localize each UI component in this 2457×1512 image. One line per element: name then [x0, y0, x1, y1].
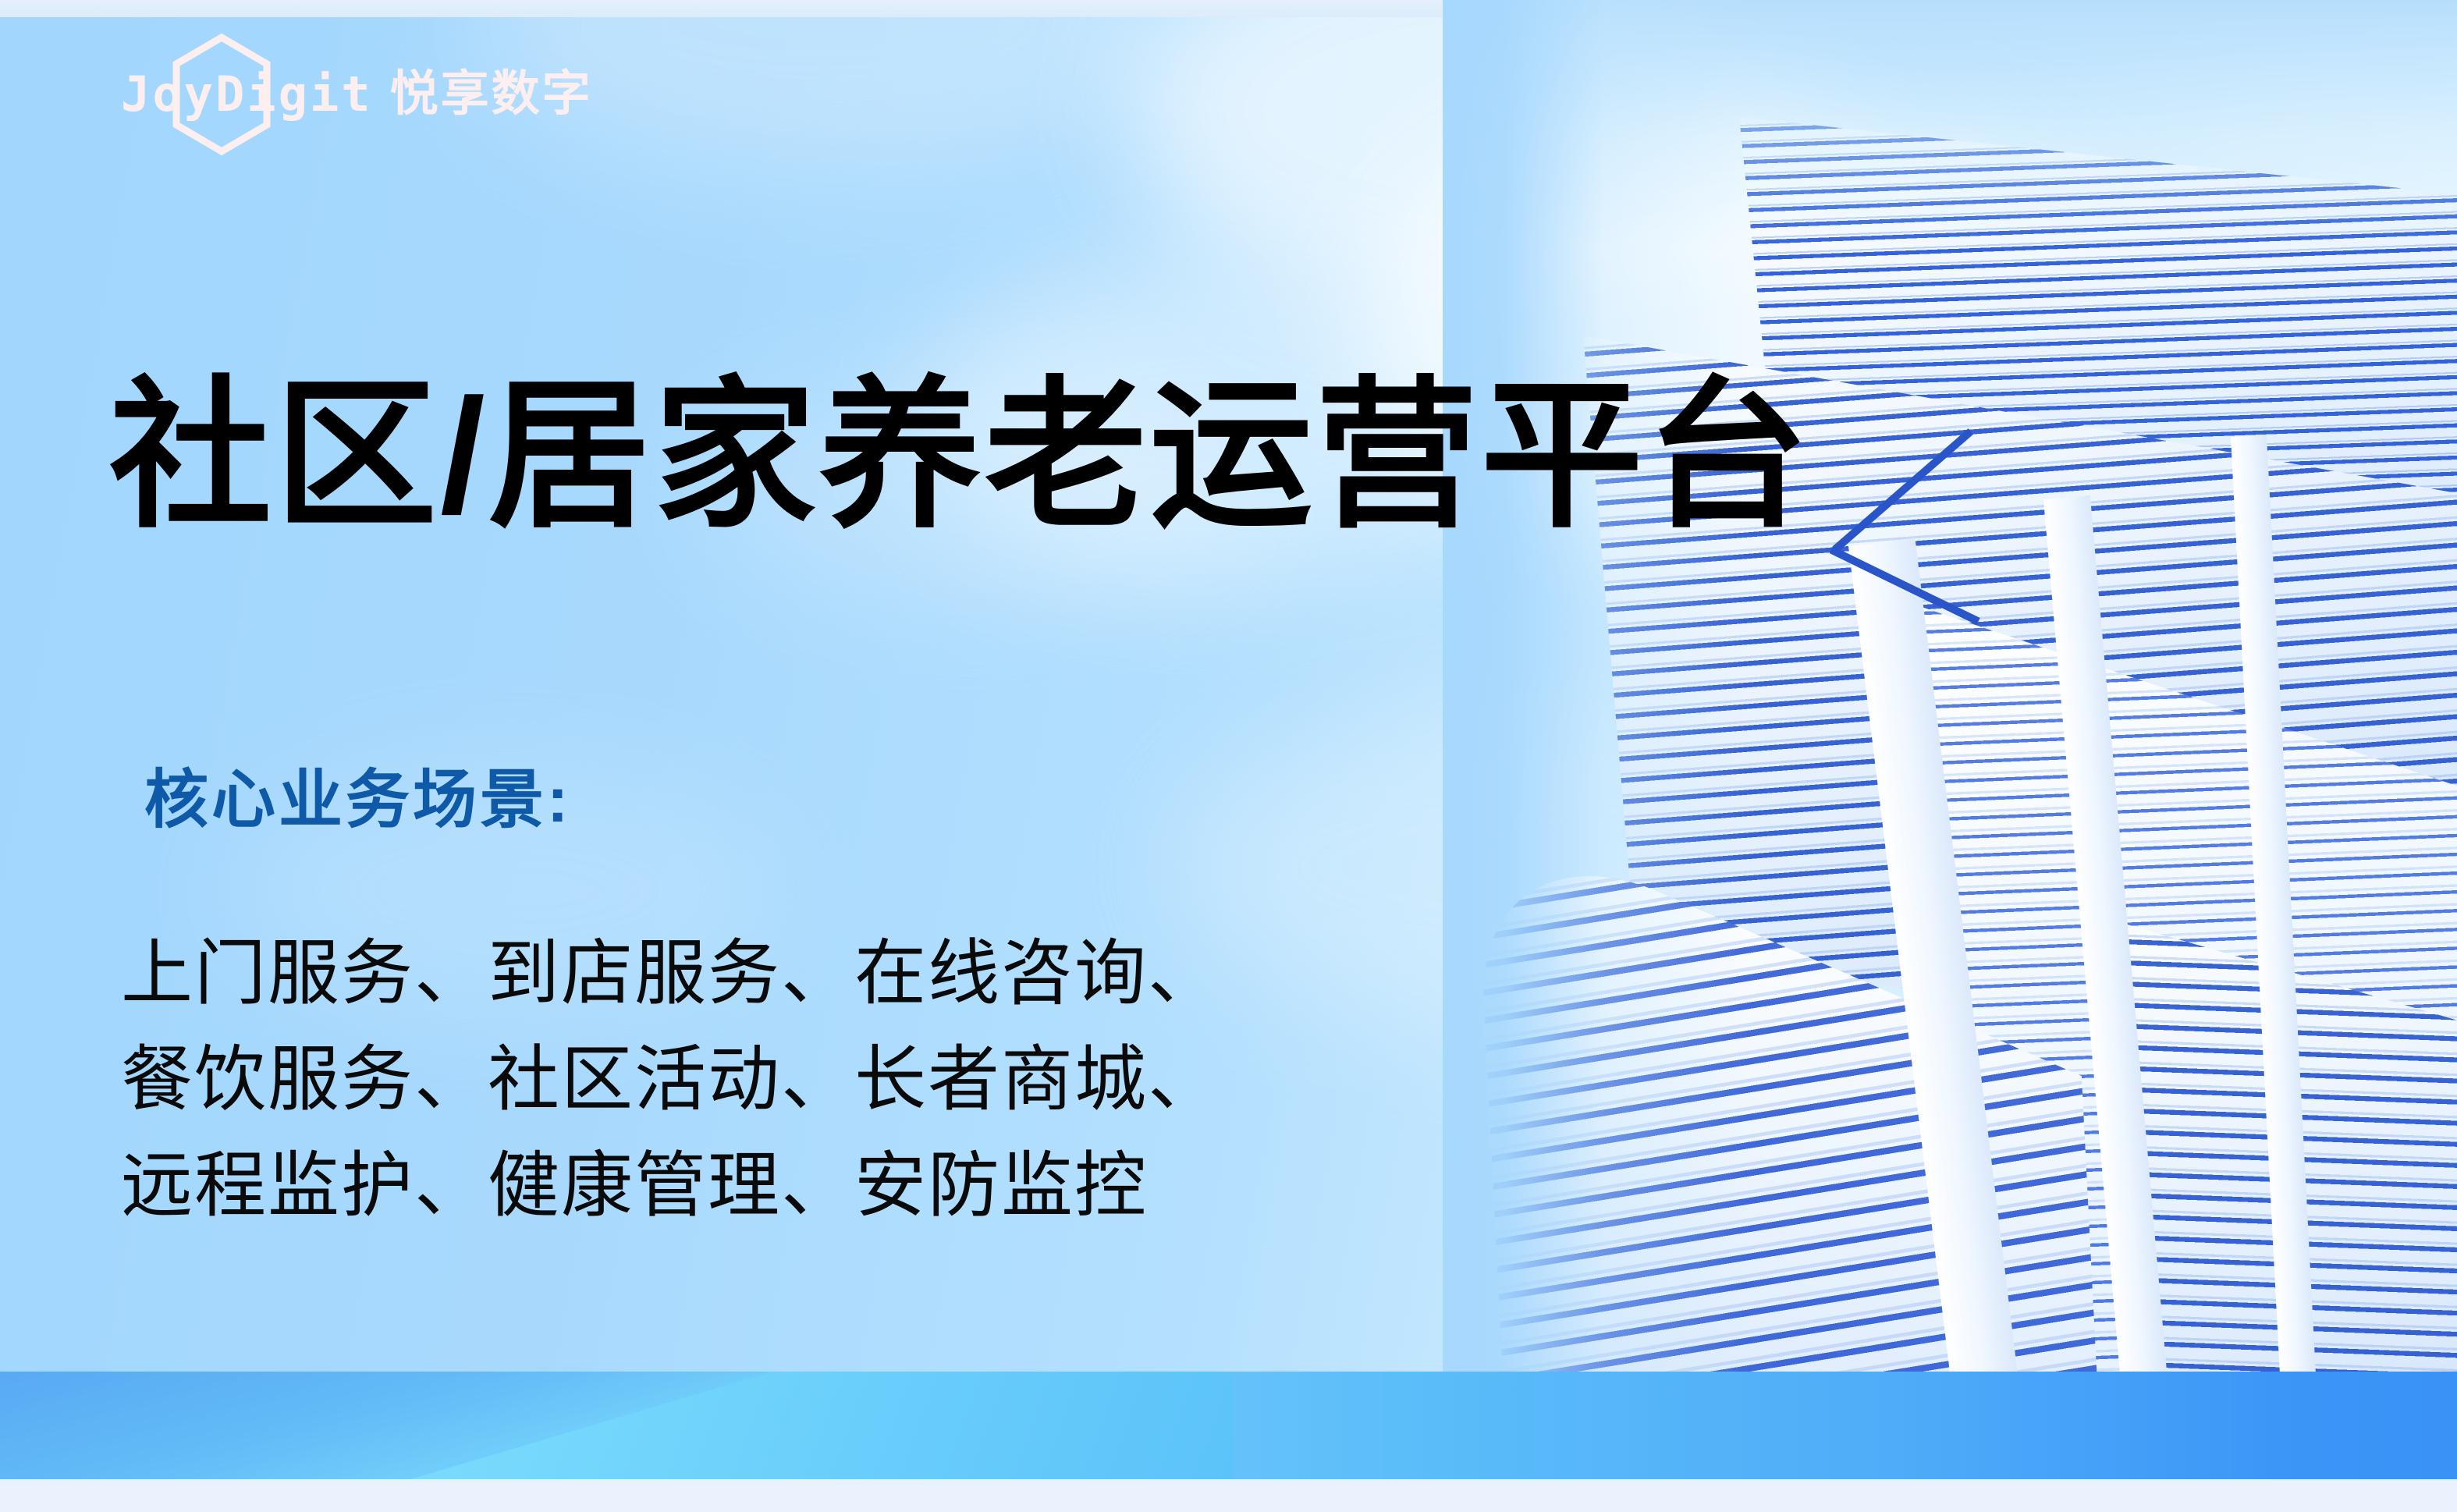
sky-background [0, 0, 2457, 1512]
slide-root: JoyDigit 悦享数字 社区/居家养老运营平台 核心业务场景: 上门服务、到… [0, 0, 2457, 1512]
scene-line: 上门服务、到店服务、在线咨询、 [121, 921, 1221, 1027]
scene-line: 餐饮服务、社区活动、长者商城、 [121, 1027, 1221, 1133]
brand-name-cn: 悦享数字 [390, 70, 593, 119]
top-edge-strip [0, 0, 2457, 17]
page-title: 社区/居家养老运营平台 [109, 366, 1812, 548]
section-heading: 核心业务场景: [144, 768, 571, 832]
bottom-band [0, 1372, 2457, 1512]
brand-mark-text: JoyDigit [121, 70, 373, 119]
scene-list: 上门服务、到店服务、在线咨询、 餐饮服务、社区活动、长者商城、 远程监护、健康管… [121, 921, 1221, 1239]
brand-logo[interactable]: JoyDigit 悦享数字 [121, 61, 593, 128]
bottom-band-right-shape [1116, 1372, 2457, 1479]
scene-line: 远程监护、健康管理、安防监控 [121, 1133, 1221, 1239]
